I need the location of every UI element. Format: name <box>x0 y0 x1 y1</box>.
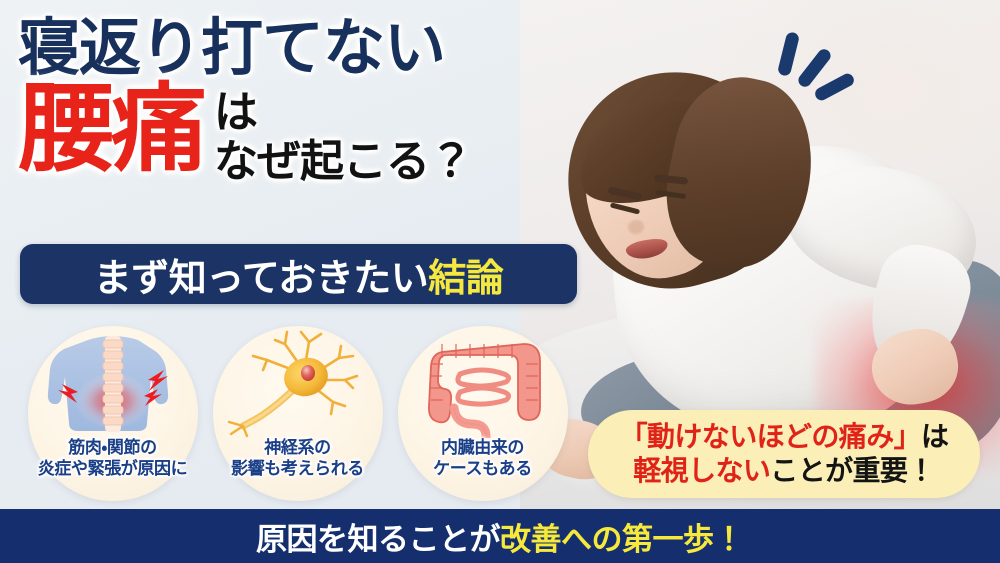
conclusion-badge: まず知っておきたい結論 <box>20 244 577 304</box>
conclusion-badge-highlight: 結論 <box>428 258 503 300</box>
neuron-icon <box>213 330 383 438</box>
bottom-banner: 原因を知ることが改善への第一歩！ <box>0 509 1000 563</box>
impact-marks-icon <box>758 22 878 122</box>
warning-callout-line-1: 「動けないほどの痛み」は <box>620 420 949 454</box>
headline-block: 寝返り打てない 腰痛 は なぜ起こる？ <box>18 16 618 184</box>
cause-card: 筋肉・関節の 炎症や緊張が原因に <box>20 326 205 506</box>
infographic-root: 寝返り打てない 腰痛 は なぜ起こる？ まず知っておきたい結論 <box>0 0 1000 563</box>
conclusion-badge-text: まず知っておきたい結論 <box>94 247 503 302</box>
headline-question: なぜ起こる？ <box>214 139 472 184</box>
cause-card-label-line-2: ケースもある <box>433 459 532 478</box>
cause-cards: 筋肉・関節の 炎症や緊張が原因に <box>20 326 575 506</box>
conclusion-badge-prefix: まず知っておきたい <box>94 258 428 300</box>
cause-card-label-line-1: 筋肉・関節の <box>68 438 156 457</box>
cause-card-label: 内臓由来の ケースもある <box>433 438 532 479</box>
warning-callout-line-1-tail: は <box>921 421 948 452</box>
cause-card-label: 神経系の 影響も考えられる <box>231 438 364 479</box>
spine-back-pain-icon <box>28 330 198 438</box>
headline-row-2: 腰痛 は なぜ起こる？ <box>18 84 618 185</box>
warning-callout-quote: 「動けないほどの痛み」 <box>620 421 921 452</box>
headline-particle: は <box>214 90 472 135</box>
warning-callout-line-2-tail: ことが重要！ <box>770 455 934 486</box>
headline-sub-block: は なぜ起こる？ <box>214 84 472 185</box>
headline-line-1: 寝返り打てない <box>18 16 618 82</box>
cause-card: 神経系の 影響も考えられる <box>205 326 390 506</box>
cause-card-label-line-2: 炎症や緊張が原因に <box>38 459 187 478</box>
warning-callout-emphasis: 軽視しない <box>633 455 770 486</box>
cause-card-label-line-1: 神経系の <box>264 438 330 457</box>
warning-callout-line-2: 軽視しないことが重要！ <box>633 454 934 488</box>
cause-card-label-line-2: 影響も考えられる <box>231 459 364 478</box>
bottom-banner-text-white: 原因を知ることが <box>256 522 500 557</box>
cause-card-label: 筋肉・関節の 炎症や緊張が原因に <box>38 438 187 479</box>
intestines-icon <box>398 330 568 438</box>
warning-callout: 「動けないほどの痛み」は 軽視しないことが重要！ <box>588 410 980 498</box>
cause-card-label-line-1: 内臓由来の <box>441 438 524 457</box>
cause-card: 内臓由来の ケースもある <box>390 326 575 506</box>
bottom-banner-text-highlight: 改善への第一歩！ <box>500 522 744 557</box>
bottom-banner-text: 原因を知ることが改善への第一歩！ <box>256 514 744 559</box>
headline-keyword-youtsu: 腰痛 <box>18 84 204 176</box>
